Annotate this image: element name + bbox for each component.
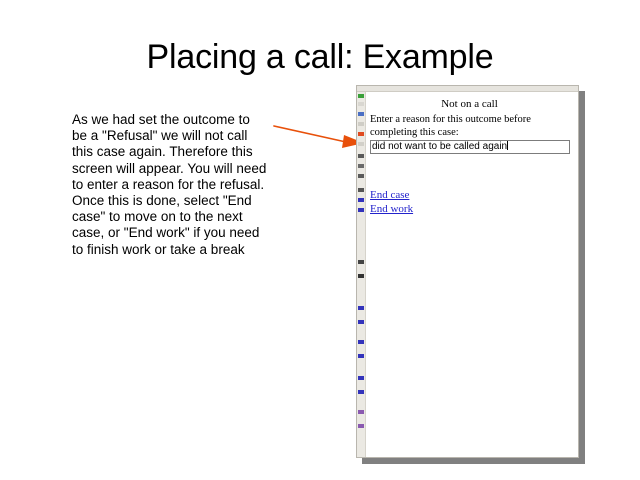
nav-fragment: [358, 306, 364, 310]
action-links-group: End case End work: [370, 188, 413, 216]
nav-fragment: [358, 354, 364, 358]
nav-fragment: [358, 390, 364, 394]
nav-fragment: [358, 208, 364, 212]
reason-input-field[interactable]: did not want to be called again: [370, 140, 570, 154]
end-work-link[interactable]: End work: [370, 202, 413, 216]
nav-fragment: [358, 122, 364, 126]
nav-fragment: [358, 188, 364, 192]
nav-fragment: [358, 274, 364, 278]
annotation-arrow-container: [272, 118, 368, 154]
nav-fragment: [358, 260, 364, 264]
not-on-a-call-heading: Not on a call: [367, 98, 572, 110]
clipped-left-nav-strip: [357, 92, 366, 457]
embedded-screenshot-panel: Not on a call Enter a reason for this ou…: [356, 85, 579, 458]
nav-fragment: [358, 154, 364, 158]
nav-fragment: [358, 102, 364, 106]
slide-body-text: As we had set the outcome to be a "Refus…: [72, 112, 268, 258]
nav-fragment: [358, 164, 364, 168]
end-case-link[interactable]: End case: [370, 188, 413, 202]
page-title: Placing a call: Example: [0, 38, 640, 77]
arrow-icon: [272, 118, 368, 154]
nav-fragment: [358, 94, 364, 98]
screenshot-content-area: Not on a call Enter a reason for this ou…: [367, 92, 578, 457]
reason-input-value: did not want to be called again: [372, 141, 507, 152]
nav-fragment: [358, 174, 364, 178]
nav-fragment: [358, 424, 364, 428]
nav-fragment: [358, 320, 364, 324]
nav-fragment: [358, 376, 364, 380]
nav-fragment: [358, 132, 364, 136]
nav-fragment: [358, 198, 364, 202]
nav-fragment: [358, 410, 364, 414]
reason-instruction-text: Enter a reason for this outcome before c…: [370, 113, 578, 139]
text-caret: [507, 141, 508, 150]
nav-fragment: [358, 142, 364, 146]
nav-fragment: [358, 112, 364, 116]
nav-fragment: [358, 340, 364, 344]
